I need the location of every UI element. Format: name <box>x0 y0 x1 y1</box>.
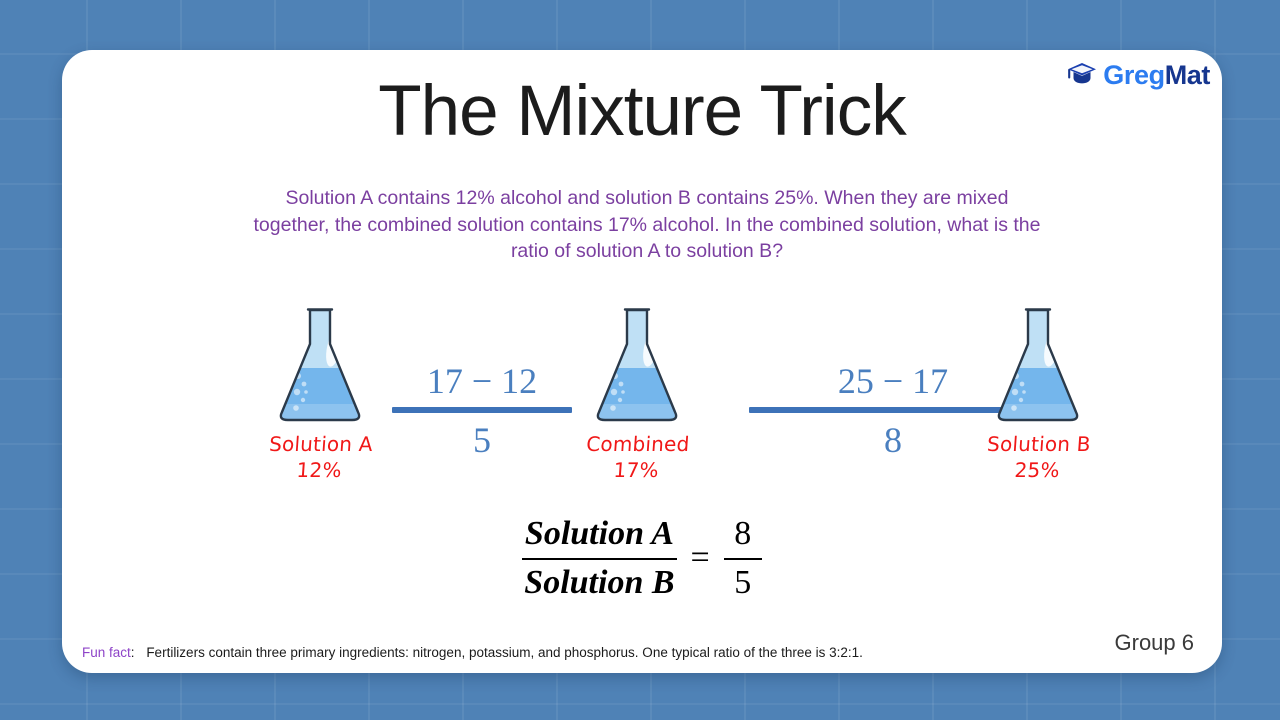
ratio-denominator: Solution B <box>522 562 676 605</box>
flask-icon-solution-b <box>990 300 1086 428</box>
left-fraction-bar <box>392 407 572 413</box>
final-equation: Solution A Solution B = 8 5 <box>62 513 1222 605</box>
equals-sign: = <box>691 539 710 579</box>
flask-group-combined: Combined 17% <box>547 300 727 483</box>
problem-statement: Solution A contains 12% alcohol and solu… <box>252 185 1042 265</box>
ratio-fraction-bar <box>522 558 676 560</box>
ratio-numerator: Solution A <box>522 513 676 556</box>
answer-fraction: 8 5 <box>724 513 762 605</box>
flask-label-text: Combined <box>586 432 691 456</box>
flask-label-percent: 17% <box>545 458 727 484</box>
answer-fraction-bar <box>724 558 762 560</box>
flask-label-percent: 12% <box>228 458 410 484</box>
flask-label-text: Solution B <box>986 432 1091 456</box>
slide-card: GregMat The Mixture Trick Solution A con… <box>62 50 1222 673</box>
page-title: The Mixture Trick <box>62 75 1222 150</box>
ratio-fraction: Solution A Solution B <box>522 513 676 605</box>
flask-label-text: Solution A <box>268 432 373 456</box>
fun-fact-label: Fun fact <box>82 645 131 660</box>
fun-fact-colon: : <box>131 645 135 660</box>
answer-numerator: 8 <box>724 513 762 556</box>
flask-group-solution-b: Solution B 25% <box>948 300 1128 483</box>
flask-icon-combined <box>589 300 685 428</box>
flask-icon-solution-a <box>272 300 368 428</box>
flask-label-combined: Combined 17% <box>545 432 729 483</box>
flask-label-solution-a: Solution A 12% <box>228 432 412 483</box>
fun-fact-text: Fertilizers contain three primary ingred… <box>146 645 863 660</box>
answer-denominator: 5 <box>724 562 762 605</box>
group-tag: Group 6 <box>1115 630 1195 656</box>
flask-label-solution-b: Solution B 25% <box>946 432 1130 483</box>
flask-group-solution-a: Solution A 12% <box>230 300 410 483</box>
flask-label-percent: 25% <box>946 458 1128 484</box>
fun-fact: Fun fact: Fertilizers contain three prim… <box>82 645 863 660</box>
